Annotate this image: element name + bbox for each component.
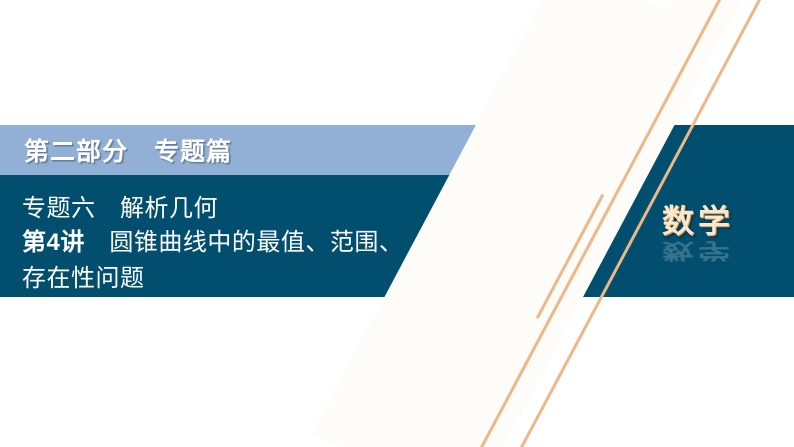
lecture-title-line-1: 圆锥曲线中的最值、范围、: [109, 230, 403, 256]
lecture-title-line-2: 存在性问题: [22, 258, 145, 293]
lecture-number-label: 第4讲: [22, 229, 85, 256]
presentation-slide: 第二部分 专题篇 专题六 解析几何 第4讲 圆锥曲线中的最值、范围、 存在性问题…: [0, 0, 794, 447]
topic-line: 专题六 解析几何: [22, 188, 218, 223]
part-title: 第二部分 专题篇: [24, 132, 232, 168]
subject-logo-group: 数学 数学: [662, 205, 772, 285]
subject-logo-reflection: 数学: [662, 240, 772, 261]
subject-logo-text: 数学: [662, 205, 772, 237]
lecture-heading: 第4讲 圆锥曲线中的最值、范围、: [22, 222, 403, 257]
lecture-spacer: [85, 230, 110, 256]
